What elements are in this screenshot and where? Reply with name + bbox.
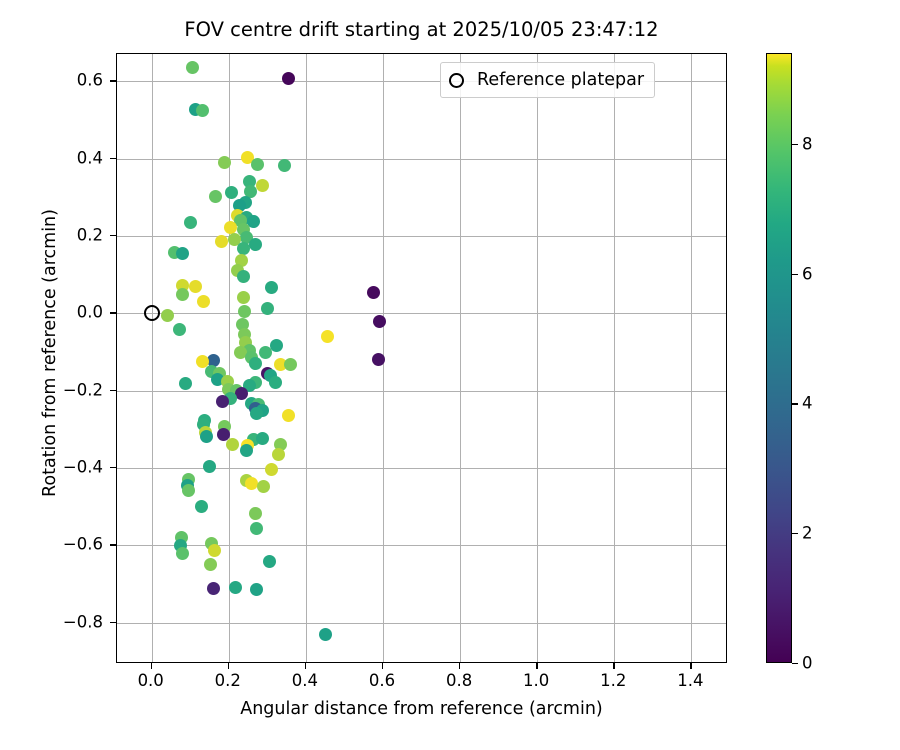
y-axis-label: Rotation from reference (arcmin) [40, 48, 60, 658]
colorbar-tick-mark [792, 403, 798, 404]
scatter-point[interactable] [218, 156, 231, 169]
scatter-point[interactable] [195, 500, 208, 513]
x-tick-label: 0.0 [138, 671, 164, 690]
scatter-point[interactable] [207, 582, 220, 595]
scatter-point[interactable] [226, 438, 239, 451]
x-tick-mark [613, 663, 614, 669]
scatter-point[interactable] [321, 330, 334, 343]
gridline-vertical [691, 54, 692, 662]
scatter-point[interactable] [203, 460, 216, 473]
gridline-vertical [614, 54, 615, 662]
x-axis-label: Angular distance from reference (arcmin) [116, 699, 727, 719]
scatter-point[interactable] [196, 104, 209, 117]
scatter-point[interactable] [225, 186, 238, 199]
colorbar-tick-mark [792, 663, 798, 664]
x-tick-label: 1.4 [677, 671, 703, 690]
scatter-point[interactable] [372, 353, 385, 366]
x-tick-mark [690, 663, 691, 669]
scatter-point[interactable] [245, 477, 258, 490]
legend-entry-label: Reference platepar [477, 70, 644, 90]
reference-platepar-marker[interactable] [144, 305, 160, 321]
y-tick-label: 0.2 [77, 226, 103, 245]
scatter-point[interactable] [256, 432, 269, 445]
colorbar-tick-label: 4 [802, 394, 813, 413]
x-tick-label: 0.2 [215, 671, 241, 690]
y-tick-label: 0.6 [77, 71, 103, 90]
scatter-point[interactable] [249, 507, 262, 520]
y-tick-mark [110, 467, 116, 468]
y-tick-mark [110, 235, 116, 236]
scatter-point[interactable] [237, 291, 250, 304]
scatter-point[interactable] [173, 323, 186, 336]
x-tick-mark [151, 663, 152, 669]
x-tick-mark [305, 663, 306, 669]
colorbar-tick-label: 2 [802, 524, 813, 543]
scatter-point[interactable] [209, 190, 222, 203]
y-tick-mark [110, 390, 116, 391]
y-tick-label: −0.2 [63, 380, 103, 399]
gridline-vertical [537, 54, 538, 662]
y-tick-mark [110, 80, 116, 81]
colorbar[interactable] [766, 53, 792, 663]
y-tick-mark [110, 158, 116, 159]
scatter-point[interactable] [282, 409, 295, 422]
y-tick-label: −0.4 [63, 458, 103, 477]
scatter-point[interactable] [208, 544, 221, 557]
scatter-point[interactable] [259, 346, 272, 359]
y-tick-label: 0.0 [77, 303, 103, 322]
scatter-point[interactable] [161, 309, 174, 322]
scatter-point[interactable] [269, 376, 282, 389]
scatter-point[interactable] [189, 280, 202, 293]
scatter-point[interactable] [197, 295, 210, 308]
x-tick-label: 1.0 [523, 671, 549, 690]
scatter-point[interactable] [278, 159, 291, 172]
scatter-point[interactable] [249, 357, 262, 370]
scatter-point[interactable] [250, 522, 263, 535]
scatter-point[interactable] [238, 305, 251, 318]
scatter-point[interactable] [265, 463, 278, 476]
x-tick-label: 0.4 [292, 671, 318, 690]
x-tick-mark [536, 663, 537, 669]
scatter-point[interactable] [249, 238, 262, 251]
scatter-point[interactable] [319, 628, 332, 641]
scatter-point[interactable] [257, 480, 270, 493]
y-tick-mark [110, 312, 116, 313]
scatter-point[interactable] [224, 221, 237, 234]
gridline-vertical [306, 54, 307, 662]
scatter-point[interactable] [182, 484, 195, 497]
scatter-point[interactable] [256, 179, 269, 192]
gridline-horizontal [117, 391, 726, 392]
scatter-point[interactable] [261, 302, 274, 315]
gridline-vertical [460, 54, 461, 662]
page-title: FOV centre drift starting at 2025/10/05 … [116, 18, 727, 41]
y-tick-label: 0.4 [77, 148, 103, 167]
figure-canvas: FOV centre drift starting at 2025/10/05 … [0, 0, 900, 750]
scatter-point[interactable] [176, 247, 189, 260]
gridline-vertical [152, 54, 153, 662]
y-tick-label: −0.6 [63, 535, 103, 554]
scatter-point[interactable] [265, 281, 278, 294]
x-tick-mark [382, 663, 383, 669]
scatter-point[interactable] [215, 235, 228, 248]
scatter-point[interactable] [367, 286, 380, 299]
scatter-point[interactable] [229, 581, 242, 594]
scatter-point[interactable] [179, 377, 192, 390]
y-tick-label: −0.8 [63, 612, 103, 631]
scatter-point[interactable] [250, 583, 263, 596]
colorbar-tick-label: 8 [802, 134, 813, 153]
legend[interactable]: Reference platepar [440, 62, 655, 98]
scatter-point[interactable] [176, 288, 189, 301]
gridline-vertical [229, 54, 230, 662]
scatter-point[interactable] [284, 358, 297, 371]
scatter-point[interactable] [263, 555, 276, 568]
scatter-point[interactable] [270, 339, 283, 352]
x-tick-mark [459, 663, 460, 669]
scatter-point[interactable] [237, 270, 250, 283]
colorbar-tick-mark [792, 533, 798, 534]
colorbar-tick-label: 0 [802, 654, 813, 673]
scatter-point[interactable] [237, 242, 250, 255]
scatter-point[interactable] [200, 430, 213, 443]
legend-open-circle-icon [449, 73, 464, 88]
colorbar-tick-label: 6 [802, 264, 813, 283]
scatter-point[interactable] [184, 216, 197, 229]
colorbar-tick-mark [792, 144, 798, 145]
scatter-point[interactable] [282, 72, 295, 85]
gridline-horizontal [117, 623, 726, 624]
scatter-point[interactable] [272, 448, 285, 461]
scatter-point[interactable] [240, 444, 253, 457]
colorbar-tick-mark [792, 274, 798, 275]
scatter-point[interactable] [250, 407, 263, 420]
gridline-horizontal [117, 159, 726, 160]
scatter-point[interactable] [373, 315, 386, 328]
scatter-point[interactable] [186, 61, 199, 74]
scatter-point[interactable] [216, 395, 229, 408]
x-tick-label: 1.2 [600, 671, 626, 690]
gridline-horizontal [117, 236, 726, 237]
gridline-horizontal [117, 313, 726, 314]
scatter-point[interactable] [176, 547, 189, 560]
scatter-point[interactable] [251, 158, 264, 171]
y-tick-mark [110, 544, 116, 545]
x-tick-mark [228, 663, 229, 669]
scatter-point[interactable] [204, 558, 217, 571]
scatter-plot-axes[interactable] [116, 53, 727, 663]
x-tick-label: 0.6 [369, 671, 395, 690]
y-tick-mark [110, 622, 116, 623]
x-tick-label: 0.8 [446, 671, 472, 690]
